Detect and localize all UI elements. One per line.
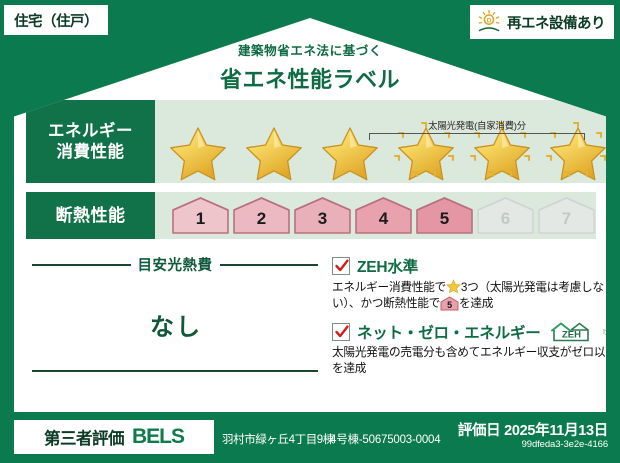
bels-plate: 第三者評価 BELS (14, 420, 214, 454)
zeh-standard-title: ZEH水準 (357, 255, 418, 277)
bels-mark-label: BELS (132, 425, 184, 449)
energy-label-line2: 消費性能 (57, 142, 125, 163)
energy-performance-label: エネルギー 消費性能 (26, 100, 155, 183)
inline-star-icon (446, 279, 461, 294)
insulation-badge-number: 2 (232, 209, 291, 229)
zeh-net-zero-description: 太陽光発電の売電分も含めてエネルギー収支がゼロ以下を達成 (332, 345, 620, 377)
footer-bar: 第三者評価 BELS 羽村市緑ヶ丘4丁目9棟 4号棟-50675003-0004… (0, 413, 620, 463)
label-card: 建築物省エネ法に基づく 省エネ性能ラベル エネルギー 消費性能 太陽光発電(自家… (14, 18, 606, 412)
insulation-badge-5: 5 (415, 196, 474, 236)
zeh-standard-head: ZEH水準 (332, 255, 620, 277)
utility-cost-value: なし (26, 307, 326, 342)
sun-solar-icon: D (476, 9, 502, 35)
insulation-badge-7: 7 (537, 196, 596, 236)
insulation-badge-number: 6 (476, 209, 535, 229)
zeh-standard-checkbox[interactable] (332, 257, 350, 275)
insulation-badge-number: 3 (293, 209, 352, 229)
renewable-energy-badge: D 再エネ設備あり (470, 5, 614, 39)
zeh-net-zero-checkbox[interactable] (332, 323, 350, 341)
svg-text:D: D (487, 18, 492, 25)
title-block: 建築物省エネ法に基づく 省エネ性能ラベル (14, 40, 606, 94)
utility-cost-bottom-rule (32, 370, 318, 372)
insulation-badge-number: 7 (537, 209, 596, 229)
star-6 (541, 119, 615, 181)
insulation-badge-number: 4 (354, 209, 413, 229)
utility-cost-panel: 目安光熱費 なし (26, 250, 326, 400)
zeh-item-standard: ZEH水準 エネルギー消費性能で3つ（太陽光発電は考慮しない）、かつ断熱性能で5… (332, 255, 620, 312)
insulation-badge-2: 2 (232, 196, 291, 236)
insulation-badge-3: 3 (293, 196, 352, 236)
performance-rows: エネルギー 消費性能 太陽光発電(自家消費)分 断熱 (26, 100, 594, 239)
insulation-label-text: 断熱性能 (56, 205, 126, 226)
insulation-badge-4: 4 (354, 196, 413, 236)
page-title: 省エネ性能ラベル (14, 62, 606, 94)
zeh-desc-part-a: エネルギー消費性能で (332, 281, 446, 294)
lower-section: 目安光熱費 なし ZEH水準 (26, 250, 594, 400)
renewable-badge-label: 再エネ設備あり (507, 12, 605, 33)
inline-badge-number: 5 (440, 299, 459, 311)
building-number: 4号棟-50675003-0004 (330, 431, 440, 447)
energy-label-root: 住宅（住戸） D 再エネ設備あり (0, 0, 620, 463)
utility-cost-heading: 目安光熱費 (26, 250, 326, 275)
star-4 (389, 119, 463, 181)
zeh-desc-part-c: を達成 (459, 297, 493, 310)
energy-performance-row: エネルギー 消費性能 太陽光発電(自家消費)分 (26, 100, 594, 183)
heading-rule-left (32, 264, 131, 266)
zeh-logo-sub-text: 『ZEH』 (600, 328, 620, 337)
star-2 (237, 119, 311, 181)
heading-rule-right (220, 264, 319, 266)
house-type-tag: 住宅（住戸） (4, 5, 108, 35)
evaluation-hash: 99dfeda3-3e2e-4166 (522, 439, 608, 450)
inline-insulation-badge-icon: 5 (440, 296, 459, 311)
evaluation-date: 評価日 2025年11月13日 (458, 419, 608, 440)
house-type-tag-label: 住宅（住戸） (14, 10, 98, 31)
svg-text:ZEH: ZEH (562, 330, 581, 341)
insulation-badge-number: 1 (171, 209, 230, 229)
energy-label-line1: エネルギー (48, 121, 133, 142)
insulation-badge-6: 6 (476, 196, 535, 236)
energy-performance-body: 太陽光発電(自家消費)分 (155, 100, 620, 183)
utility-cost-heading-text: 目安光熱費 (138, 254, 213, 275)
star-1 (161, 119, 235, 181)
star-rating-strip (161, 119, 615, 181)
star-3 (313, 119, 387, 181)
property-address: 羽村市緑ヶ丘4丁目9棟 (222, 431, 334, 447)
insulation-badge-number: 5 (415, 209, 474, 229)
insulation-badge-1: 1 (171, 196, 230, 236)
star-5 (465, 119, 539, 181)
bels-prefix-label: 第三者評価 (44, 425, 124, 449)
zeh-house-logo-icon: ZEH (548, 321, 592, 343)
title-subtitle: 建築物省エネ法に基づく (14, 40, 606, 59)
insulation-performance-label: 断熱性能 (26, 192, 155, 239)
zeh-item-net-zero: ネット・ゼロ・エネルギー ZEH 『ZEH』 (332, 321, 620, 377)
insulation-performance-row: 断熱性能 1234567 (26, 192, 594, 239)
zeh-net-zero-title: ネット・ゼロ・エネルギー (357, 321, 541, 343)
zeh-criteria-panel: ZEH水準 エネルギー消費性能で3つ（太陽光発電は考慮しない）、かつ断熱性能で5… (326, 250, 620, 400)
insulation-performance-body: 1234567 (155, 192, 596, 239)
zeh-standard-description: エネルギー消費性能で3つ（太陽光発電は考慮しない）、かつ断熱性能で5を達成 (332, 279, 620, 312)
zeh-net-zero-head: ネット・ゼロ・エネルギー ZEH 『ZEH』 (332, 321, 620, 343)
zeh-desc-star-count: 3つ (461, 281, 479, 294)
